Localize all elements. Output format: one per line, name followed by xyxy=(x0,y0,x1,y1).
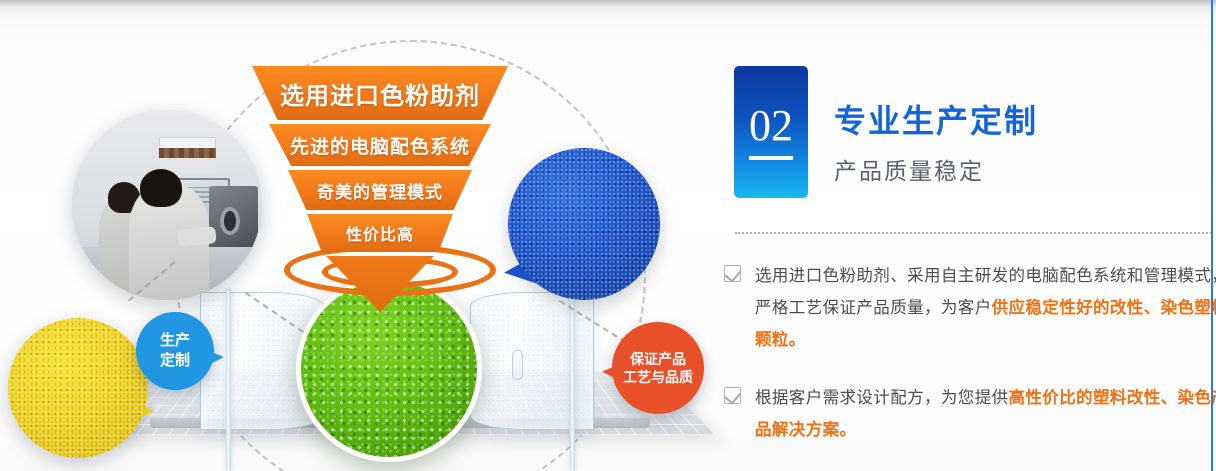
yellow-powder-texture xyxy=(8,318,148,458)
lab-technicians-photo xyxy=(72,110,262,300)
funnel-band-4: 性价比高 xyxy=(307,214,453,252)
feature-item-1: 选用进口色粉助剂、采用自主研发的电脑配色系统和管理模式，严格工艺保证产品质量，为… xyxy=(724,260,1216,356)
feature-item-2: 根据客户需求设计配方，为您提供高性价比的塑料改性、染色产品解决方案。 xyxy=(724,382,1216,446)
check-box-icon xyxy=(724,265,741,282)
funnel-band-3: 奇美的管理模式 xyxy=(288,170,472,210)
illustration-area: 选用进口色粉助剂 先进的电脑配色系统 奇美的管理模式 性价比高 生产 定制 保证… xyxy=(0,0,710,471)
section-divider xyxy=(735,232,1212,234)
panel-right-edge xyxy=(1211,0,1213,471)
check-box-icon xyxy=(724,387,741,404)
callout-orange-line2: 工艺与品质 xyxy=(623,368,693,386)
promo-banner: 选用进口色粉助剂 先进的电脑配色系统 奇美的管理模式 性价比高 生产 定制 保证… xyxy=(0,0,1216,471)
funnel-band-2: 先进的电脑配色系统 xyxy=(269,124,491,166)
feature-text-2-plain: 根据客户需求设计配方，为您提供 xyxy=(755,389,1009,407)
glass-handle-right xyxy=(512,350,523,380)
photo-head-right xyxy=(140,169,182,207)
callout-orange-line1: 保证产品 xyxy=(630,350,686,368)
blue-pigment-powder xyxy=(508,148,660,300)
funnel-infographic: 选用进口色粉助剂 先进的电脑配色系统 奇美的管理模式 性价比高 xyxy=(252,66,508,312)
page-subtitle: 产品质量稳定 xyxy=(834,152,984,186)
page-title: 专业生产定制 xyxy=(834,96,1038,142)
content-panel: 02 专业生产定制 产品质量稳定 选用进口色粉助剂、采用自主研发的电脑配色系统和… xyxy=(710,0,1216,471)
feature-text-2: 根据客户需求设计配方，为您提供高性价比的塑料改性、染色产品解决方案。 xyxy=(755,382,1216,446)
section-number: 02 xyxy=(749,104,793,160)
glass-post-right xyxy=(570,288,575,470)
funnel-band-1: 选用进口色粉助剂 xyxy=(252,66,508,120)
funnel-tip xyxy=(326,256,434,312)
glass-post-left xyxy=(226,288,231,470)
callout-production-customization[interactable]: 生产 定制 xyxy=(136,312,214,390)
glass-panel-right xyxy=(470,292,594,430)
blue-powder-texture xyxy=(508,148,660,300)
photo-rack xyxy=(159,148,216,158)
callout-blue-line2: 定制 xyxy=(160,351,190,371)
blue-powder-surface xyxy=(508,148,660,300)
photo-colorimeter xyxy=(209,186,258,254)
callout-blue-line1: 生产 xyxy=(160,331,190,351)
yellow-powder-surface xyxy=(8,318,148,458)
feature-text-1: 选用进口色粉助剂、采用自主研发的电脑配色系统和管理模式，严格工艺保证产品质量，为… xyxy=(755,260,1216,356)
section-number-badge: 02 xyxy=(734,66,808,198)
yellow-pigment-powder xyxy=(8,318,148,458)
callout-quality-assurance[interactable]: 保证产品 工艺与品质 xyxy=(612,322,704,414)
